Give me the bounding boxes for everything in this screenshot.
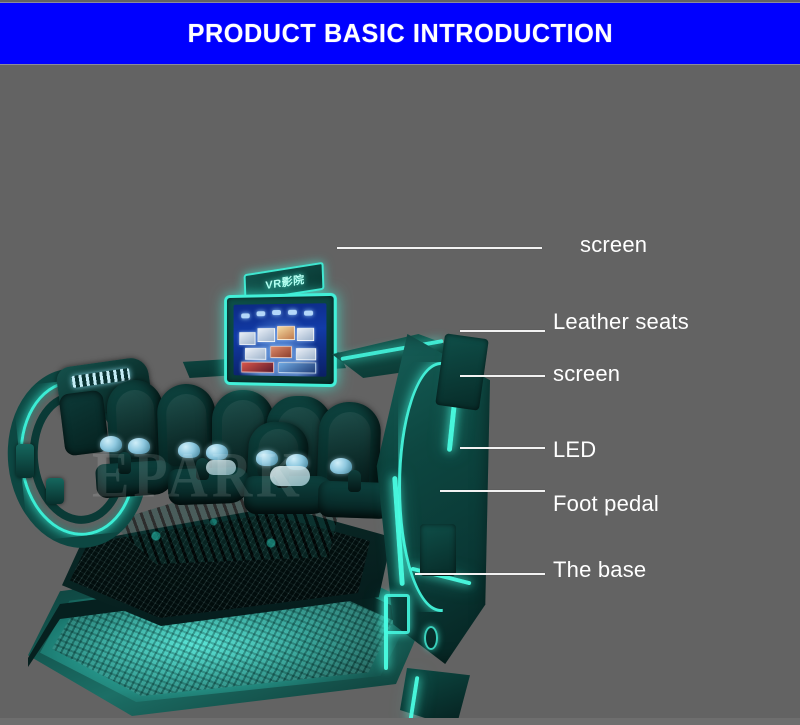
seat-cushion-white-1 [270, 466, 310, 486]
leader-line-screen-side [460, 375, 545, 377]
side-panel-plate-mid [420, 524, 456, 576]
side-panel-emblem [384, 594, 410, 634]
callout-label-leather-seats: Leather seats [553, 309, 689, 335]
screen-nav-dot-5 [304, 311, 313, 316]
callout-label-screen-side: screen [553, 361, 620, 387]
callout-label-led: LED [553, 437, 596, 463]
page-title: PRODUCT BASIC INTRODUCTION [187, 18, 613, 49]
screen-thumb-1 [239, 332, 255, 345]
header-banner: PRODUCT BASIC INTRODUCTION [0, 2, 800, 65]
ring-pad-bottom [46, 478, 64, 504]
leader-line-screen-top [337, 247, 542, 249]
seat-cushion-white-2 [206, 460, 236, 475]
screen-nav-dot-3 [272, 310, 281, 315]
armrest-pad-2 [128, 438, 150, 454]
screen-thumb-5 [245, 348, 266, 360]
screen-thumb-3 [277, 326, 295, 340]
top-monitor-screen [234, 303, 327, 377]
armrest-pad-5 [256, 450, 278, 466]
side-panel-port [424, 626, 438, 650]
screen-thumb-6 [270, 346, 292, 358]
screen-thumb-9 [278, 362, 316, 374]
screen-thumb-8 [241, 362, 274, 373]
bottom-strip [0, 718, 800, 725]
product-photo: VR影院 [0, 176, 520, 696]
screen-thumb-4 [297, 328, 314, 341]
callout-label-screen-top: screen [580, 232, 647, 258]
armrest-pad-3 [178, 442, 200, 458]
screen-nav-dot-4 [288, 310, 297, 315]
joystick-1 [118, 452, 131, 474]
leader-line-foot-pedal [440, 490, 545, 492]
ring-pad-left [16, 444, 34, 478]
callout-label-the-base: The base [553, 557, 646, 583]
callout-label-foot-pedal: Foot pedal [553, 491, 659, 517]
joystick-4 [348, 470, 361, 492]
screen-nav-dot-1 [241, 313, 250, 318]
content-area: VR影院 [0, 66, 800, 721]
screen-thumb-7 [296, 348, 316, 360]
leader-line-the-base [415, 573, 545, 575]
screen-nav-dot-2 [257, 311, 266, 316]
armrest-pad-4 [206, 444, 228, 460]
leader-line-leather-seats [460, 330, 545, 332]
screen-thumb-2 [257, 328, 275, 342]
armrest-pad-1 [100, 436, 122, 452]
leader-line-led [460, 447, 545, 449]
seat-base-1 [95, 459, 175, 498]
